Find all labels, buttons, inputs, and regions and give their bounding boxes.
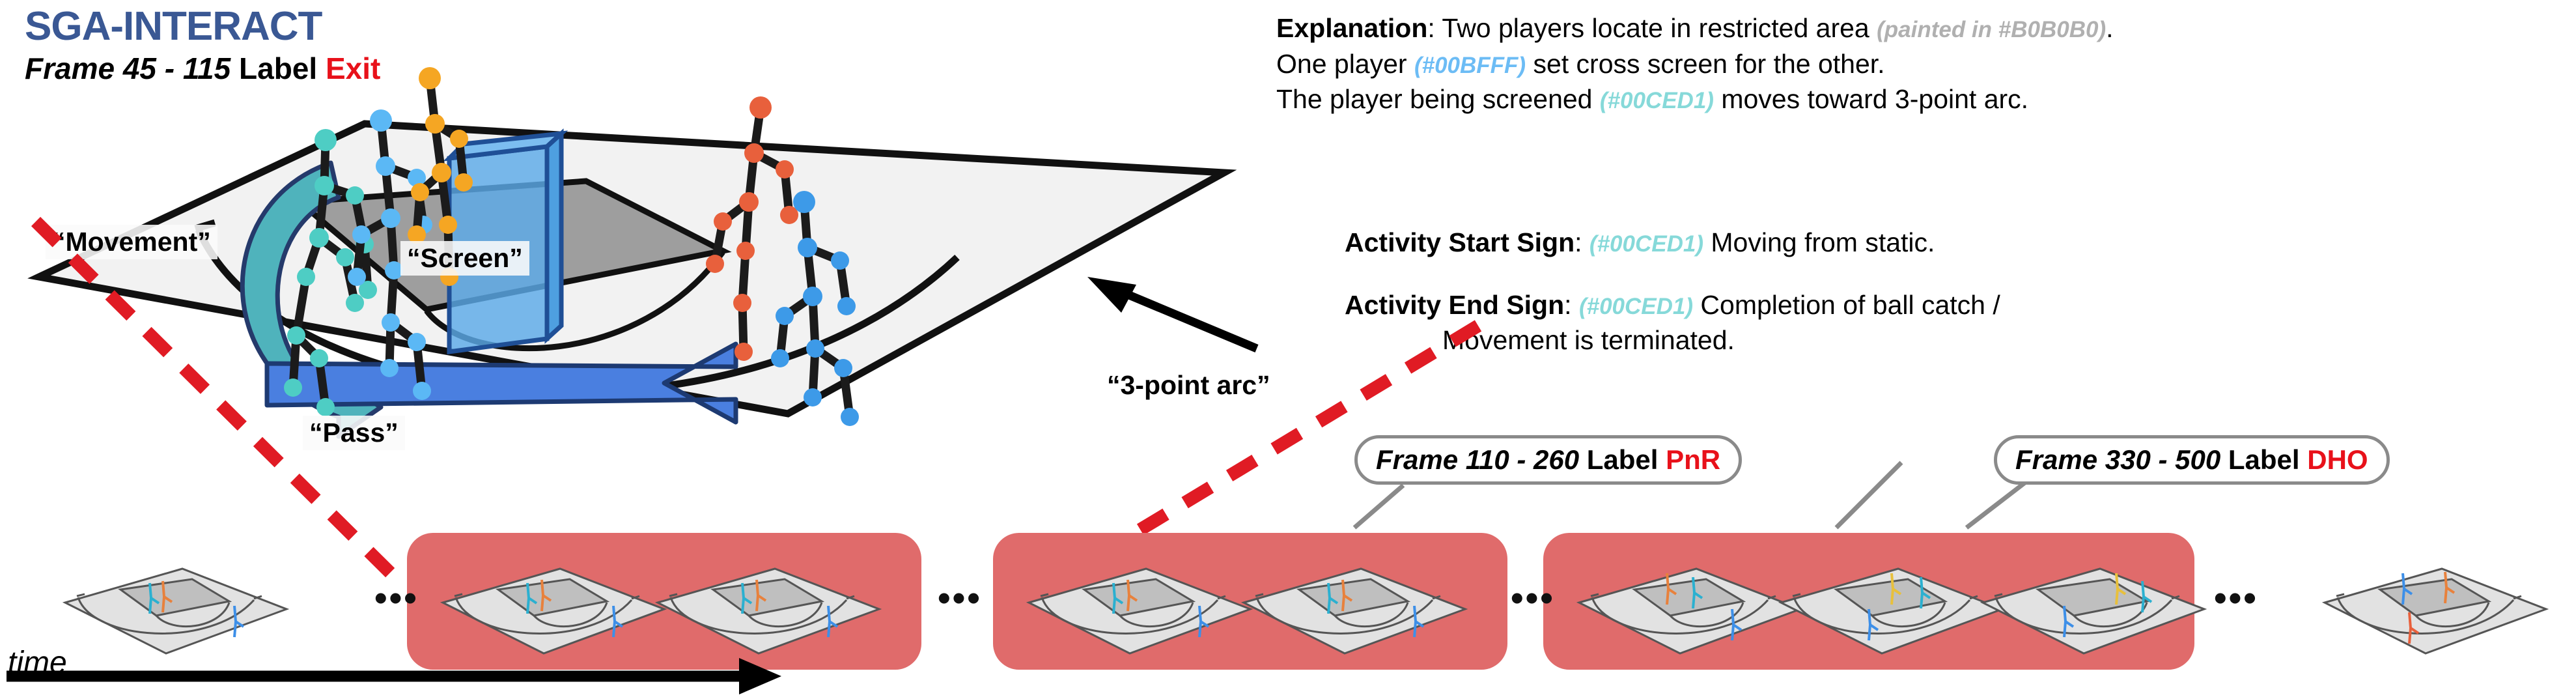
timeline-ellipsis-2: ••• xyxy=(938,580,982,616)
explanation-line-2-hex: (#00BFFF) xyxy=(1414,53,1526,78)
timeline-thumb-0[interactable] xyxy=(65,569,287,653)
explanation-line-1-hex: (painted in #B0B0B0) xyxy=(1877,17,2106,42)
activity-end-sign-text-b: Completion of ball catch / xyxy=(1693,290,2000,320)
bubble-dho-label-value: DHO xyxy=(2307,444,2368,475)
explanation-line-3-hex: (#00CED1) xyxy=(1600,88,1714,113)
bubble-pnr-label-word: Label xyxy=(1587,444,1659,475)
explanation-line-2-text-b: set cross screen for the other. xyxy=(1526,49,1884,79)
activity-end-sign-continuation: Movement is terminated. xyxy=(1442,322,2575,358)
timeline-ellipsis-1: ••• xyxy=(374,580,419,616)
explanation-line-2: One player (#00BFFF) set cross screen fo… xyxy=(1276,46,2572,82)
explanation-line-3-text-b: moves toward 3-point arc. xyxy=(1714,84,2028,114)
bubble-dho-frame-range: Frame 330 - 500 xyxy=(2015,444,2220,475)
timeline-ellipsis-4: ••• xyxy=(2214,580,2258,616)
time-axis-label: time xyxy=(8,645,67,681)
activity-start-sign-text-a: : xyxy=(1575,227,1589,257)
explanation-heading: Explanation xyxy=(1276,13,1427,43)
explanation-line-1: Explanation: Two players locate in restr… xyxy=(1276,10,2572,46)
activity-start-sign-text-b: Moving from static. xyxy=(1703,227,1935,257)
explanation-line-2-text-a: One player xyxy=(1276,49,1414,79)
activity-start-sign-hex: (#00CED1) xyxy=(1589,231,1703,257)
activity-end-sign-hex: (#00CED1) xyxy=(1579,294,1693,319)
timeline-thumb-8[interactable] xyxy=(2325,569,2546,653)
explanation-line-1-text-b: . xyxy=(2106,13,2113,43)
timeline-ellipsis-3: ••• xyxy=(1511,580,1555,616)
page-title: SGA-INTERACT xyxy=(25,5,380,48)
bubble-dho-label-word: Label xyxy=(2228,444,2300,475)
activity-end-sign-text-a: : xyxy=(1564,290,1579,320)
bubble-pnr-label-value: PnR xyxy=(1666,444,1720,475)
frame-bubble-pnr[interactable]: Frame 110 - 260 Label PnR xyxy=(1354,435,1742,485)
bubble-pnr-frame-range: Frame 110 - 260 xyxy=(1376,444,1579,475)
timeline: ••• ••• ••• ••• time xyxy=(0,521,2576,696)
explanation-line-1-text-a: : Two players locate in restricted area xyxy=(1427,13,1877,43)
frame-bubble-dho[interactable]: Frame 330 - 500 Label DHO xyxy=(1994,435,2390,485)
